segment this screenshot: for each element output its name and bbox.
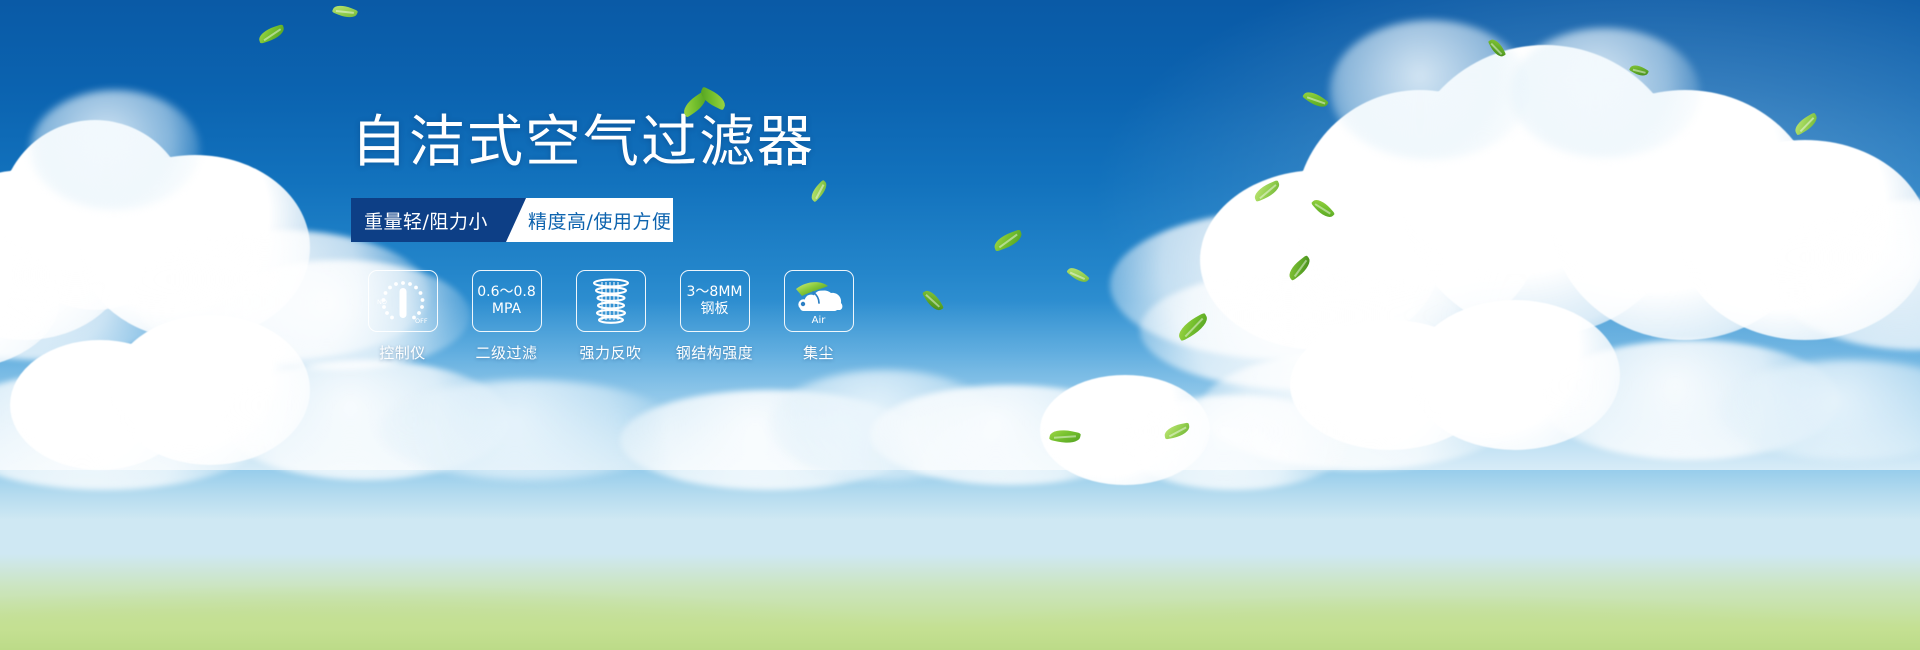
- steel-thickness: 3〜8MM: [687, 284, 743, 301]
- gauge-dial-icon: NO OFF: [368, 270, 438, 332]
- feature-label: 集尘: [767, 342, 870, 363]
- floating-leaf: [332, 2, 358, 21]
- floating-leaf: [1488, 37, 1506, 59]
- title-row: 自洁式空气过滤器: [351, 108, 1051, 182]
- feature-list: NO OFF 控制仪 0.6〜0.8 MPA 二级过滤: [351, 270, 1051, 363]
- pressure-text-icon: 0.6〜0.8 MPA: [472, 270, 542, 332]
- cloud-bank-right-lower: [1200, 290, 1920, 470]
- grass-foreground: [0, 554, 1920, 650]
- cloud-bank-right: [1080, 20, 1920, 400]
- feature-label: 控制仪: [351, 342, 454, 363]
- floating-leaf: [1302, 88, 1329, 111]
- hero-banner: 自洁式空气过滤器 重量轻/阻力小 精度高/使用方便: [0, 0, 1920, 650]
- feature-item-controller: NO OFF 控制仪: [351, 270, 454, 363]
- badge-label: 重量轻/阻力小: [364, 207, 488, 234]
- pressure-unit: MPA: [477, 301, 536, 318]
- feature-item-dust: Air 集尘: [767, 270, 870, 363]
- grass-ridge-right: [0, 465, 1920, 650]
- leaf-pair-icon: [681, 86, 727, 120]
- floating-leaf: [1252, 180, 1282, 202]
- svg-text:OFF: OFF: [415, 317, 428, 325]
- steel-plate-text-icon: 3〜8MM 钢板: [680, 270, 750, 332]
- feature-item-pressure: 0.6〜0.8 MPA 二级过滤: [455, 270, 558, 363]
- floating-leaf: [257, 24, 286, 44]
- grass-field: [0, 410, 1920, 650]
- steel-material: 钢板: [687, 301, 743, 318]
- floating-leaf: [1066, 264, 1089, 286]
- feature-label: 钢结构强度: [663, 342, 766, 363]
- feature-item-backblow: 强力反吹: [559, 270, 662, 363]
- pressure-range: 0.6〜0.8: [477, 284, 536, 301]
- banner-content: 自洁式空气过滤器 重量轻/阻力小 精度高/使用方便: [351, 108, 1051, 363]
- feature-label: 二级过滤: [455, 342, 558, 363]
- badge-precision-convenience: 精度高/使用方便: [506, 198, 673, 242]
- air-caption: Air: [785, 315, 853, 326]
- feature-label: 强力反吹: [559, 342, 662, 363]
- spring-coil-icon: [576, 270, 646, 332]
- floating-leaf: [1792, 112, 1821, 135]
- svg-text:NO: NO: [377, 298, 387, 306]
- floating-leaf: [1311, 196, 1335, 221]
- badge-group: 重量轻/阻力小 精度高/使用方便: [351, 198, 673, 242]
- badge-weight-resistance: 重量轻/阻力小: [351, 198, 531, 242]
- floating-leaf: [1629, 62, 1649, 79]
- grass-ridge-left: [0, 450, 1920, 650]
- cloud-air-icon: Air: [784, 270, 854, 332]
- floating-leaf: [1163, 422, 1191, 439]
- floating-leaf: [1285, 255, 1314, 281]
- floating-leaf: [1049, 427, 1081, 446]
- badge-label: 精度高/使用方便: [528, 207, 671, 234]
- floating-leaf: [1175, 312, 1211, 341]
- feature-item-steel: 3〜8MM 钢板 钢结构强度: [663, 270, 766, 363]
